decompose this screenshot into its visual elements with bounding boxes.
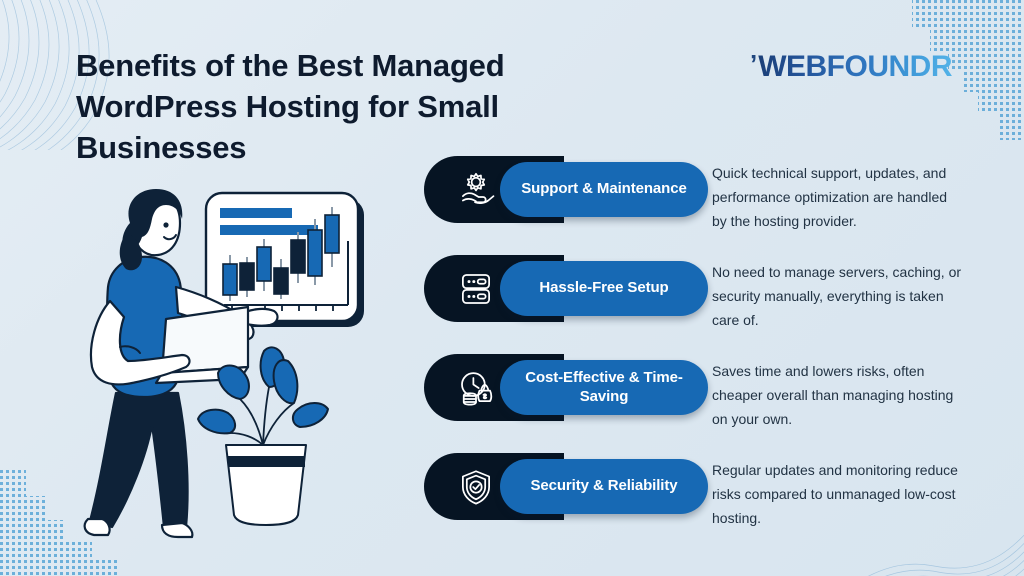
- feature-row: Cost-Effective & Time-Saving Saves time …: [424, 354, 984, 441]
- feature-description: Quick technical support, updates, and pe…: [712, 161, 964, 233]
- infographic-canvas: Benefits of the Best Managed WordPress H…: [0, 0, 1024, 576]
- feature-label: Support & Maintenance: [509, 180, 698, 199]
- leaf-left: [198, 410, 235, 434]
- leaf-upper-right: [274, 360, 298, 403]
- feature-label-pill[interactable]: Hassle-Free Setup: [500, 261, 708, 316]
- feature-label: Cost-Effective & Time-Saving: [500, 369, 708, 407]
- gear-hand-icon: [455, 169, 497, 211]
- brand-logo: ’ WEBFOUNDR: [750, 50, 952, 84]
- clock-money-icon: [455, 367, 497, 409]
- feature-row: Support & Maintenance Quick technical su…: [424, 156, 984, 243]
- logo-wordmark: WEBFOUNDR: [758, 50, 952, 84]
- shield-check-icon: [455, 466, 497, 508]
- feature-list: Support & Maintenance Quick technical su…: [424, 156, 984, 540]
- feature-description: Regular updates and monitoring reduce ri…: [712, 458, 964, 530]
- page-title: Benefits of the Best Managed WordPress H…: [76, 46, 546, 169]
- feature-row: Security & Reliability Regular updates a…: [424, 453, 984, 540]
- feature-label: Hassle-Free Setup: [527, 279, 680, 298]
- feature-description: No need to manage servers, caching, or s…: [712, 260, 964, 332]
- feature-label-pill[interactable]: Security & Reliability: [500, 459, 708, 514]
- server-stack-icon: [455, 268, 497, 310]
- feature-row: Hassle-Free Setup No need to manage serv…: [424, 255, 984, 342]
- feature-description: Saves time and lowers risks, often cheap…: [712, 359, 964, 431]
- chart-board-illustration: [206, 193, 364, 327]
- hero-illustration: [60, 175, 420, 545]
- feature-label-pill[interactable]: Cost-Effective & Time-Saving: [500, 360, 708, 415]
- leaf-right: [293, 403, 328, 427]
- feature-label-pill[interactable]: Support & Maintenance: [500, 162, 708, 217]
- plant-illustration: [198, 347, 328, 525]
- feature-label: Security & Reliability: [518, 477, 689, 496]
- logo-tick-icon: ’: [750, 51, 757, 77]
